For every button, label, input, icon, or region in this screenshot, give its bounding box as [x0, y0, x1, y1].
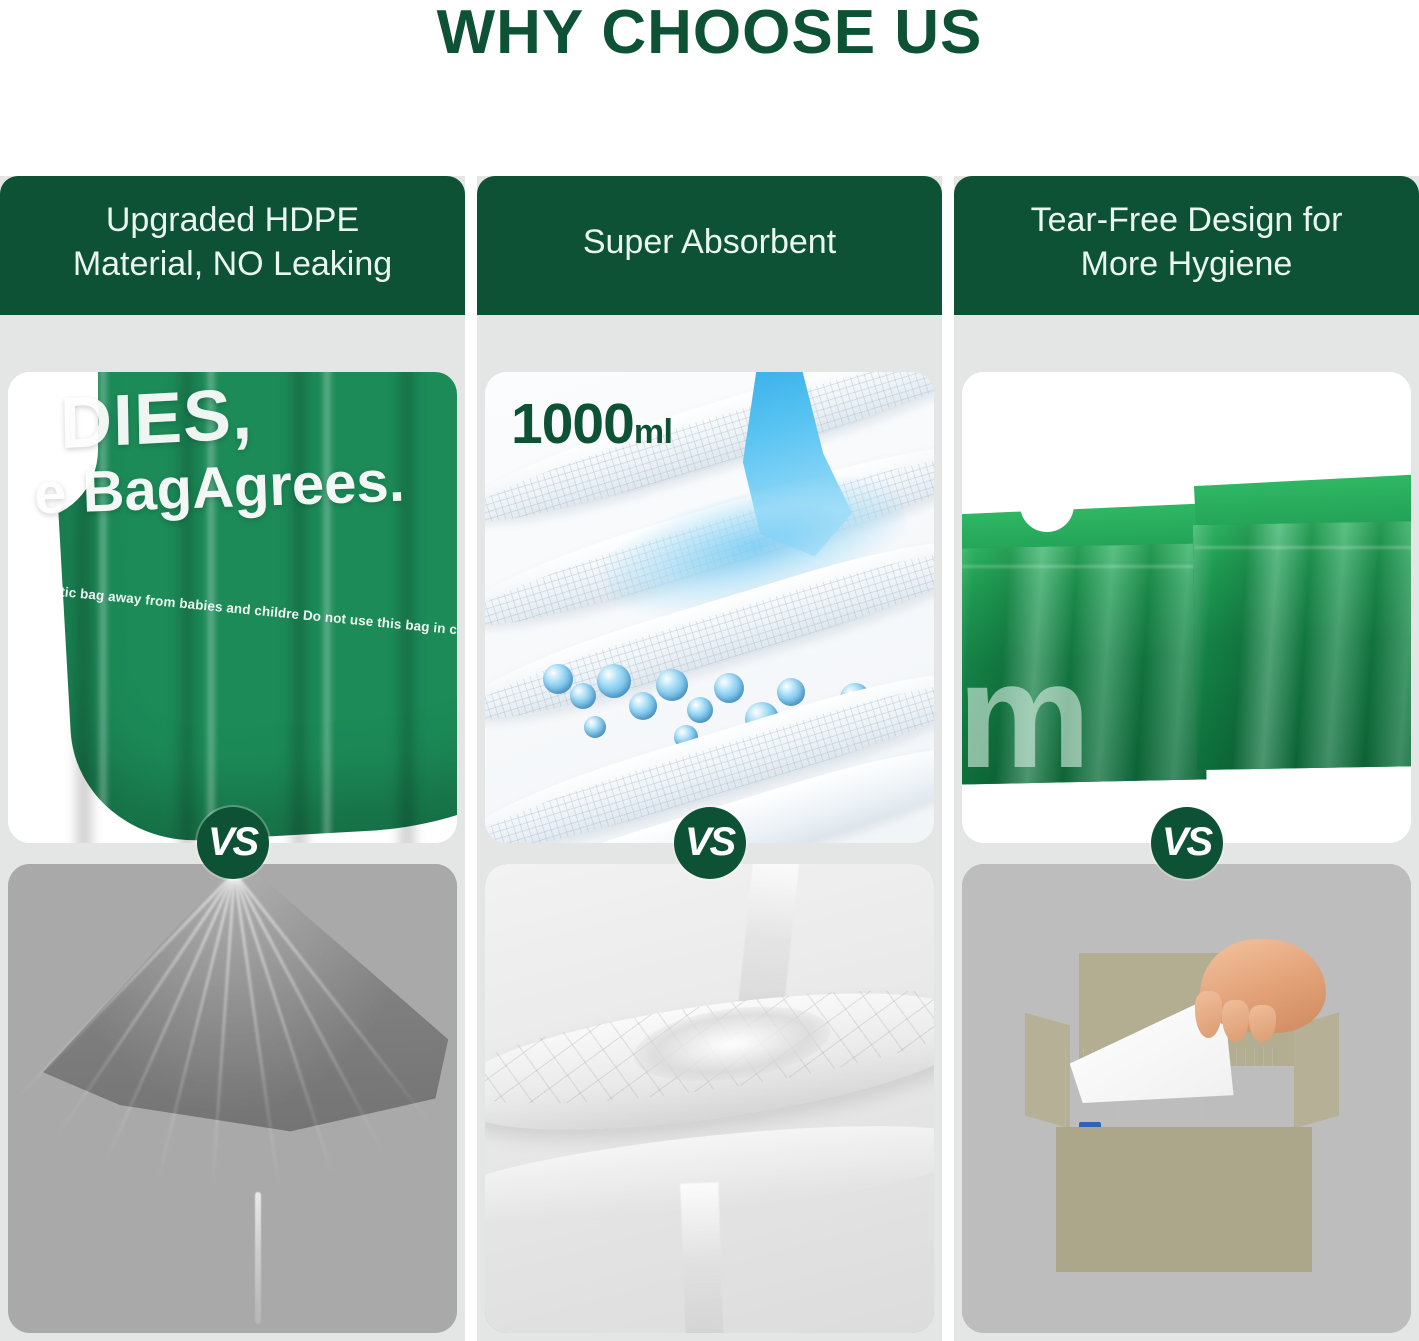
green-bags-illustration: m — [962, 372, 1411, 843]
gel-bead — [714, 673, 744, 703]
why-choose-us-infographic: WHY CHOOSE US Upgraded HDPE Material, NO… — [0, 0, 1419, 1341]
bag-printed-letter: m — [962, 640, 1087, 790]
vs-badge: VS — [1151, 807, 1223, 879]
leaking-water-stream — [255, 1192, 261, 1323]
bag-fold-shadow — [394, 372, 420, 843]
comparison-image-hand-pulling-bag — [962, 864, 1411, 1333]
gel-bead — [584, 716, 606, 738]
leaking-bag-illustration — [8, 864, 457, 1333]
column-header-line2: More Hygiene — [1081, 245, 1293, 283]
water-stream-bottom — [680, 1182, 724, 1333]
box-flap-left — [1025, 1012, 1070, 1128]
gel-bead — [597, 664, 631, 698]
green-bag-illustration: DIES, e BagAgrees. plastic bag away from… — [8, 372, 457, 843]
absorbent-layers-illustration: 1000ml — [485, 372, 934, 843]
capacity-unit: ml — [634, 413, 673, 451]
column-header-tear-free-design: Tear-Free Design for More Hygiene — [954, 176, 1419, 315]
page-title: WHY CHOOSE US — [437, 2, 983, 64]
box-flap-right — [1294, 1012, 1339, 1128]
feature-column-super-absorbent: Super Absorbent — [477, 176, 942, 1341]
column-header-line1: Super Absorbent — [583, 223, 836, 261]
page-title-bar: WHY CHOOSE US — [0, 0, 1419, 176]
gel-bead — [656, 669, 688, 701]
column-header-text: Upgraded HDPE Material, NO Leaking — [73, 199, 392, 286]
vs-badge: VS — [197, 807, 269, 879]
bag-printed-text-line2: e BagAgrees. — [33, 448, 406, 528]
comparison-columns: Upgraded HDPE Material, NO Leaking — [0, 176, 1419, 1341]
capacity-label: 1000ml — [511, 396, 673, 453]
column-header-line1: Upgraded HDPE — [106, 201, 359, 239]
gel-bead — [777, 678, 805, 706]
column-header-text: Super Absorbent — [583, 221, 836, 265]
column-header-text: Tear-Free Design for More Hygiene — [1031, 199, 1343, 286]
comparison-image-leaking-gray-bag — [8, 864, 457, 1333]
vs-badge-label: VS — [685, 822, 734, 862]
capacity-value: 1000 — [511, 392, 634, 456]
water-through-pad-illustration — [485, 864, 934, 1333]
column-header-upgraded-hdpe: Upgraded HDPE Material, NO Leaking — [0, 176, 465, 315]
gel-bead — [570, 683, 596, 709]
vs-badge-label: VS — [1162, 822, 1211, 862]
column-header-line2: Material, NO Leaking — [73, 245, 392, 283]
column-header-line1: Tear-Free Design for — [1031, 201, 1343, 239]
product-image-green-bags-notch: m — [962, 372, 1411, 843]
column-body-super-absorbent: 1000ml VS — [477, 315, 942, 1341]
bag-body-right — [1193, 521, 1411, 770]
comparison-image-water-through-pad — [485, 864, 934, 1333]
product-image-absorbent-layers: 1000ml — [485, 372, 934, 843]
bag-crease-highlight — [322, 372, 332, 843]
vs-badge: VS — [674, 807, 746, 879]
feature-column-upgraded-hdpe: Upgraded HDPE Material, NO Leaking — [0, 176, 465, 1341]
feature-column-tear-free-design: Tear-Free Design for More Hygiene m — [954, 176, 1419, 1341]
gel-bead — [629, 692, 657, 720]
column-body-tear-free-design: m VS — [954, 315, 1419, 1341]
box-front-panel — [1056, 1127, 1312, 1272]
vs-badge-label: VS — [208, 822, 257, 862]
product-image-green-hdpe-bag: DIES, e BagAgrees. plastic bag away from… — [8, 372, 457, 843]
bag-printed-text-line1: DIES, — [59, 373, 253, 465]
column-header-super-absorbent: Super Absorbent — [477, 176, 942, 315]
bag-seam — [1195, 546, 1411, 549]
column-body-upgraded-hdpe: DIES, e BagAgrees. plastic bag away from… — [0, 315, 465, 1341]
hand-and-box-illustration — [962, 864, 1411, 1333]
bag-seam — [962, 565, 1204, 568]
gel-bead — [687, 697, 713, 723]
